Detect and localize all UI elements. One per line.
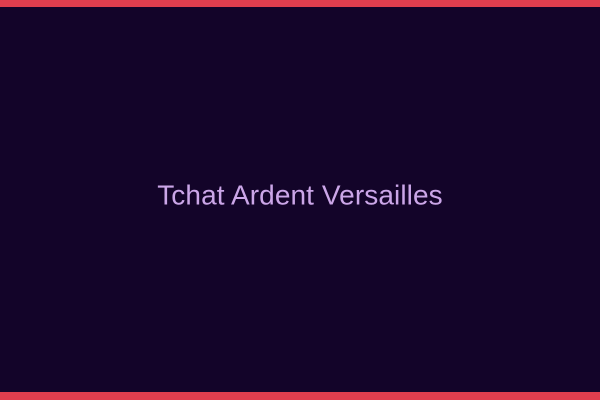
bottom-accent-bar [0,392,600,400]
placeholder-banner: Tchat Ardent Versailles [0,0,600,400]
top-accent-bar [0,0,600,7]
banner-caption: Tchat Ardent Versailles [0,181,600,212]
